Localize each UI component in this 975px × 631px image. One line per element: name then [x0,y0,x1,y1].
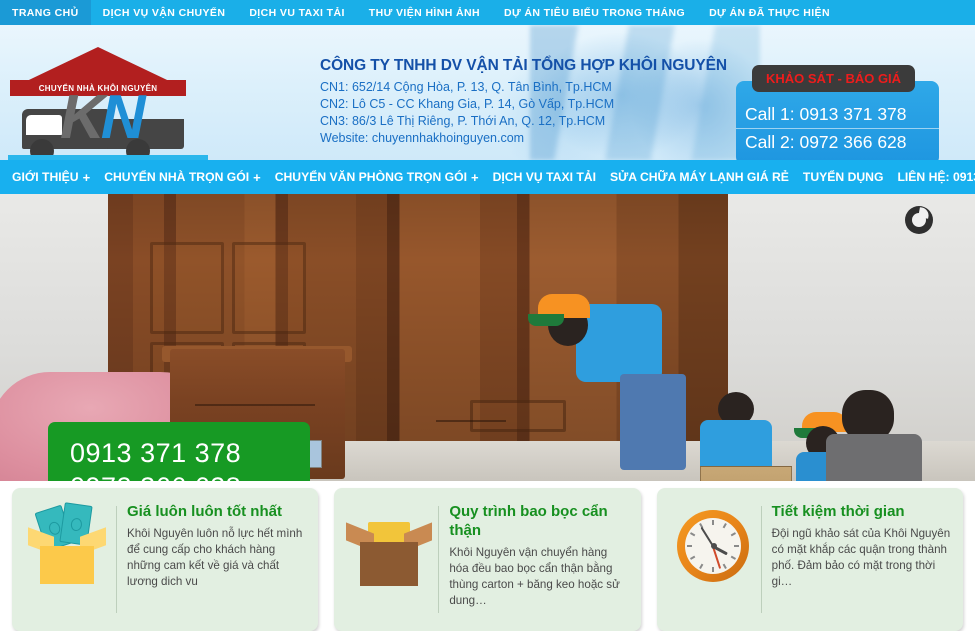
menu-item-dich-vu-taxi-tai[interactable]: DỊCH VỤ TAXI TẢI [486,170,603,184]
hero-worker-jeans [620,374,686,470]
card-title: Quy trình bao bọc cẩn thận [449,502,628,540]
clock-center-pin [711,543,717,549]
company-name: CÔNG TY TNHH DV VẬN TẢI TỔNG HỢP KHÔI NG… [320,57,727,75]
loading-spinner-icon [905,206,933,234]
card-title: Tiết kiệm thời gian [772,502,951,521]
logo-truck-window [26,115,62,135]
hero-nightstand-drawer-line [195,404,315,406]
top-navigation-bar: TRANG CHỦ DỊCH VỤ VẬN CHUYỂN DỊCH VU TAX… [0,0,975,25]
box-body [360,542,418,586]
logo-letter-k: K [60,83,101,152]
menu-item-label: LIÊN HỆ: 0913 371 378 [897,170,975,184]
menu-item-lien-he[interactable]: LIÊN HỆ: 0913 371 378 [890,170,975,184]
clock-tick [712,520,714,525]
company-logo[interactable]: CHUYỂN NHÀ KHÔI NGUYÊN KN [8,47,208,157]
hero-phone-2[interactable]: 0972 366 628 [70,470,310,481]
card-description: Khôi Nguyên luôn nỗ lực hết mình để cung… [127,526,306,590]
main-menu-bar: GIỚI THIỆU + CHUYỂN NHÀ TRỌN GÓI + CHUYỂ… [0,160,975,194]
menu-item-label: TUYỂN DỤNG [803,170,884,184]
card-divider [116,506,117,613]
money-box-icon [24,502,110,592]
card-description: Khôi Nguyên vận chuyển hàng hóa đều bao … [449,545,628,609]
card-description: Đội ngũ khảo sát của Khôi Nguyên có mặt … [772,526,951,590]
menu-item-label: GIỚI THIỆU [12,170,79,184]
clock-tick [687,545,692,547]
topnav-item-du-an-tieu-bieu[interactable]: DỰ ÁN TIÊU BIỂU TRONG THÁNG [492,0,697,25]
topnav-item-dich-vu-van-chuyen[interactable]: DỊCH VỤ VẬN CHUYỂN [91,0,238,25]
clock-icon [669,502,755,592]
feature-card-careful-packing[interactable]: Quy trình bao bọc cẩn thận Khôi Nguyên v… [334,488,640,631]
company-info: CÔNG TY TNHH DV VẬN TẢI TỔNG HỢP KHÔI NG… [320,57,727,147]
call-2-number[interactable]: Call 2: 0972 366 628 [736,129,939,156]
menu-item-label: SỬA CHỮA MÁY LẠNH GIÁ RẺ [610,170,789,184]
box-body [40,546,94,584]
menu-item-chuyen-nha-tron-goi[interactable]: CHUYỂN NHÀ TRỌN GÓI + [97,170,268,185]
menu-expand-plus-icon[interactable]: + [471,170,479,185]
menu-item-label: CHUYỂN VĂN PHÒNG TRỌN GÓI [275,170,467,184]
card-text: Giá luôn luôn tốt nhất Khôi Nguyên luôn … [127,502,306,590]
clock-tick [734,545,739,547]
menu-expand-plus-icon[interactable]: + [83,170,91,185]
hero-carton-box [700,466,792,481]
logo-kn-monogram: KN [60,87,142,149]
topnav-item-trang-chu[interactable]: TRANG CHỦ [0,0,91,25]
hero-phone-1[interactable]: 0913 371 378 [70,436,310,470]
feature-cards-row: Giá luôn luôn tốt nhất Khôi Nguyên luôn … [0,484,975,631]
clock-tick [712,567,714,572]
hero-slider[interactable]: 0913 371 378 0972 366 628 Mr Đồng [0,194,975,481]
survey-quote-button[interactable]: KHẢO SÁT - BÁO GIÁ [752,65,915,92]
carton-box-icon [346,502,432,592]
card-text: Quy trình bao bọc cẩn thận Khôi Nguyên v… [449,502,628,609]
hero-phone-overlay[interactable]: 0913 371 378 0972 366 628 Mr Đồng [48,422,310,481]
topnav-item-dich-vu-taxi-tai[interactable]: DỊCH VU TAXI TẢI [237,0,356,25]
hero-worker-grey-tshirt [826,434,922,481]
menu-item-label: CHUYỂN NHÀ TRỌN GÓI [104,170,249,184]
spinner-notch [918,207,930,219]
call-box: Call 1: 0913 371 378 Call 2: 0972 366 62… [736,81,939,160]
topnav-item-du-an-da-thuc-hien[interactable]: DỰ ÁN ĐÃ THỰC HIỆN [697,0,842,25]
card-text: Tiết kiệm thời gian Đội ngũ khảo sát của… [772,502,951,590]
logo-letter-n: N [101,83,142,152]
site-header: CHUYỂN NHÀ KHÔI NGUYÊN KN CÔNG TY TNHH D… [0,25,975,160]
topnav-item-thu-vien-hinh-anh[interactable]: THƯ VIỆN HÌNH ẢNH [357,0,492,25]
menu-item-tuyen-dung[interactable]: TUYỂN DỤNG [796,170,891,184]
feature-card-time-saving[interactable]: Tiết kiệm thời gian Đội ngũ khảo sát của… [657,488,963,631]
company-website[interactable]: Website: chuyennhakhoinguyen.com [320,130,727,147]
company-branch-2: CN2: Lô C5 - CC Khang Gia, P. 14, Gò Vấp… [320,96,727,113]
menu-item-gioi-thieu[interactable]: GIỚI THIỆU + [0,170,97,185]
company-branch-3: CN3: 86/3 Lê Thị Riêng, P. Thới An, Q. 1… [320,113,727,130]
card-divider [438,506,439,613]
feature-card-best-price[interactable]: Giá luôn luôn tốt nhất Khôi Nguyên luôn … [12,488,318,631]
menu-item-chuyen-van-phong-tron-goi[interactable]: CHUYỂN VĂN PHÒNG TRỌN GÓI + [268,170,486,185]
menu-expand-plus-icon[interactable]: + [253,170,261,185]
company-branch-1: CN1: 652/14 Cộng Hòa, P. 13, Q. Tân Bình… [320,79,727,96]
card-divider [761,506,762,613]
hero-worker-cap-brim [528,314,564,326]
call-1-number[interactable]: Call 1: 0913 371 378 [736,101,939,129]
card-title: Giá luôn luôn tốt nhất [127,502,306,521]
menu-item-label: DỊCH VỤ TAXI TẢI [493,170,596,184]
menu-item-sua-chua-may-lanh[interactable]: SỬA CHỮA MÁY LẠNH GIÁ RẺ [603,170,796,184]
